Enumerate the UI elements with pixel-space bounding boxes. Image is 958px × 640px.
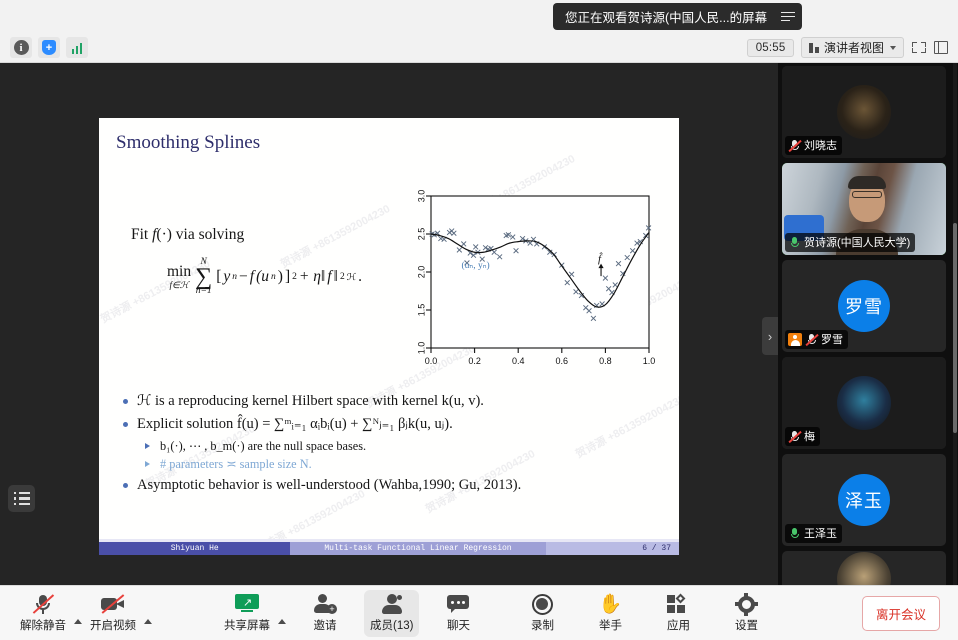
control-button-gear[interactable]: 设置 <box>719 590 773 637</box>
slide-bullet: ℋ is a reproducing kernel Hilbert space … <box>117 390 667 413</box>
meeting-timer: 05:55 <box>747 39 795 57</box>
control-button-label: 应用 <box>667 617 690 633</box>
formula-u-close: ) <box>278 268 283 286</box>
slide-footer-author: Shiyuan He <box>99 542 290 555</box>
control-button-label: 邀请 <box>314 617 337 633</box>
control-item-group: +邀请 <box>298 590 352 637</box>
control-item-group: 应用 <box>651 590 705 637</box>
formula-sum-lower: n=1 <box>196 287 212 297</box>
chevron-right-icon: › <box>768 329 772 344</box>
participant-tile[interactable] <box>782 551 946 585</box>
formula-y-sub: n <box>232 272 237 282</box>
control-button-label: 成员(13) <box>370 617 413 633</box>
participant-name: 贺诗源(中国人民大学) <box>804 234 910 250</box>
info-icon: i <box>14 40 29 55</box>
formula-bracket-close: ] <box>285 268 290 286</box>
control-item-group: ↗共享屏幕 <box>218 590 286 637</box>
mic-muted-icon <box>788 430 801 443</box>
control-item-group: 设置 <box>719 590 773 637</box>
formula-plus-eta: + η‖ <box>299 268 325 286</box>
participant-tile[interactable]: 贺诗源(中国人民大学) <box>782 163 946 255</box>
participant-name-chip: 罗雪 <box>785 330 848 349</box>
signal-bars-icon <box>72 42 83 54</box>
formula-bracket-open: [ <box>216 268 221 286</box>
svg-text:0.6: 0.6 <box>556 356 569 366</box>
layout-toggle-icon[interactable] <box>934 41 948 54</box>
network-quality-button[interactable] <box>66 37 88 58</box>
fullscreen-icon[interactable] <box>911 40 927 55</box>
control-button-label: 录制 <box>531 617 554 633</box>
view-mode-label: 演讲者视图 <box>824 39 884 56</box>
formula-minus: − <box>239 268 248 286</box>
control-button-label: 举手 <box>599 617 622 633</box>
control-button-label: 解除静音 <box>20 617 66 633</box>
formula-min-symbol: min <box>167 264 191 280</box>
slide-footer-title: Multi-task Functional Linear Regression <box>290 542 545 555</box>
svg-text:0.0: 0.0 <box>425 356 438 366</box>
chevron-up-icon[interactable] <box>278 619 286 624</box>
control-button-record[interactable]: 录制 <box>515 590 569 637</box>
formula-min-operator: min f∈ℋ <box>167 264 191 290</box>
svg-text:2.5: 2.5 <box>416 228 426 241</box>
slide-bullet: Asymptotic behavior is well-understood (… <box>117 474 667 497</box>
slide-bullet: Explicit solution f̂(u) = ∑ᵐᵢ₌₁ αᵢbᵢ(u) … <box>117 413 667 436</box>
svg-text:0.2: 0.2 <box>468 356 481 366</box>
formula-norm-sup: 2 <box>340 272 345 282</box>
slide-sub-bullet: # parameters ≍ sample size N. <box>117 455 667 473</box>
fit-pre: Fit <box>131 226 152 243</box>
control-button-chat[interactable]: 聊天 <box>431 590 485 637</box>
participant-name-chip: 王泽玉 <box>785 524 842 543</box>
participant-name-chip: 梅 <box>785 427 820 446</box>
svg-text:1.5: 1.5 <box>416 304 426 317</box>
avatar: 泽玉 <box>838 474 890 526</box>
presentation-slide: 贺诗源 +8613592004230 贺诗源 +8613592004230 贺诗… <box>99 118 679 555</box>
mic-muted-icon <box>805 333 818 346</box>
control-button-mic-muted[interactable]: 解除静音 <box>14 590 72 637</box>
topbar-left-group: i + <box>0 37 88 58</box>
chevron-down-icon <box>890 46 896 50</box>
participant-tile[interactable]: 泽玉王泽玉 <box>782 454 946 546</box>
mic-on-icon <box>788 236 801 249</box>
apps-icon <box>667 594 689 614</box>
slide-sub-bullet: b₁(·), ⋯ , b_m(·) are the null space bas… <box>117 437 667 455</box>
control-button-raise-hand[interactable]: ✋举手 <box>583 590 637 637</box>
annotation-toolbar-button[interactable] <box>8 485 35 512</box>
meeting-topbar: i + 05:55 演讲者视图 <box>0 33 958 63</box>
control-item-group: 录制 <box>515 590 569 637</box>
avatar-photo <box>782 551 946 585</box>
participant-name-chip: 刘晓志 <box>785 136 842 155</box>
formula-summation: N ∑ n=1 <box>195 258 212 296</box>
camera-off-icon <box>100 594 126 614</box>
control-bar-mid-group: ↗共享屏幕+邀请成员(13)聊天 <box>218 590 485 637</box>
control-button-label: 设置 <box>735 617 758 633</box>
screen-share-banner-text: 您正在观看贺诗源(中国人民...的屏幕 <box>565 7 767 26</box>
participants-icon <box>380 594 404 614</box>
invite-user-icon: + <box>313 594 337 614</box>
participant-tile[interactable]: 梅 <box>782 357 946 449</box>
formula-min-subscript: f∈ℋ <box>169 281 188 290</box>
speaker-view-icon <box>809 43 819 53</box>
svg-text:1.0: 1.0 <box>643 356 656 366</box>
svg-text:0.8: 0.8 <box>599 356 612 366</box>
hamburger-menu-icon[interactable] <box>777 12 792 22</box>
control-item-group: 聊天 <box>431 590 485 637</box>
slide-title: Smoothing Splines <box>116 132 260 154</box>
chart-annotation-points-label: (uₙ, yₙ) <box>462 260 490 271</box>
host-badge-icon <box>788 333 802 346</box>
slide-footer-page: 6 / 37 <box>546 542 679 555</box>
encryption-shield-button[interactable]: + <box>38 37 60 58</box>
svg-text:0.4: 0.4 <box>512 356 525 366</box>
formula-sum-symbol: ∑ <box>195 268 212 287</box>
participant-name: 梅 <box>804 428 815 444</box>
control-button-participants[interactable]: 成员(13) <box>364 590 419 637</box>
formula-period: . <box>358 268 362 286</box>
control-button-invite-user[interactable]: +邀请 <box>298 590 352 637</box>
chevron-up-icon[interactable] <box>144 619 152 624</box>
participant-name: 刘晓志 <box>804 137 837 153</box>
participant-tile[interactable]: 罗雪罗雪 <box>782 260 946 352</box>
chart-y-axis: 1.01.52.02.53.0 <box>416 190 431 355</box>
mic-muted-icon <box>788 139 801 152</box>
fit-intro-line: Fit f(·) via solving <box>131 226 244 244</box>
shield-icon: + <box>42 40 56 55</box>
participant-name: 罗雪 <box>821 331 843 347</box>
fit-post: (·) via solving <box>156 226 244 243</box>
formula-norm-f: f <box>327 268 331 286</box>
control-button-apps[interactable]: 应用 <box>651 590 705 637</box>
control-item-group: 开启视频 <box>84 590 152 637</box>
top-strip: 您正在观看贺诗源(中国人民...的屏幕 <box>0 0 958 33</box>
view-mode-selector[interactable]: 演讲者视图 <box>801 37 904 58</box>
raise-hand-icon: ✋ <box>599 595 623 614</box>
chevron-up-icon[interactable] <box>74 619 82 624</box>
control-button-camera-off[interactable]: 开启视频 <box>84 590 142 637</box>
participant-name: 王泽玉 <box>804 525 837 541</box>
mic-muted-icon <box>32 593 54 615</box>
control-button-share-screen[interactable]: ↗共享屏幕 <box>218 590 276 637</box>
svg-text:1.0: 1.0 <box>416 342 426 355</box>
formula-u-sub: n <box>271 272 276 282</box>
share-screen-icon: ↗ <box>235 594 259 614</box>
smoothing-spline-chart: 1.01.52.02.53.0 0.00.20.40.60.81.0 (uₙ, … <box>391 188 659 388</box>
control-button-label: 开启视频 <box>90 617 136 633</box>
meeting-info-button[interactable]: i <box>10 37 32 58</box>
formula-y: y <box>223 268 230 286</box>
participant-tile[interactable]: 刘晓志 <box>782 66 946 158</box>
meeting-control-bar: 解除静音开启视频 ↗共享屏幕+邀请成员(13)聊天 录制✋举手应用设置 离开会议 <box>0 585 958 640</box>
control-item-group: 解除静音 <box>14 590 82 637</box>
objective-formula: min f∈ℋ N ∑ n=1 [yn − f(un)]2 + η‖f‖2ℋ. <box>167 258 362 296</box>
svg-text:2.0: 2.0 <box>416 266 426 279</box>
list-annotation-icon <box>14 492 30 506</box>
slide-bullet-list: ℋ is a reproducing kernel Hilbert space … <box>117 390 667 497</box>
participant-name-chip: 贺诗源(中国人民大学) <box>785 233 915 252</box>
control-item-group: ✋举手 <box>583 590 637 637</box>
shared-screen-stage: 贺诗源 +8613592004230 贺诗源 +8613592004230 贺诗… <box>0 63 778 585</box>
chart-x-axis: 0.00.20.40.60.81.0 <box>425 348 656 366</box>
control-item-group: 成员(13) <box>364 590 419 637</box>
rail-collapse-button[interactable]: › <box>762 317 778 355</box>
formula-power: 2 <box>292 272 297 282</box>
chart-svg: 1.01.52.02.53.0 0.00.20.40.60.81.0 (uₙ, … <box>391 188 659 388</box>
control-button-label: 共享屏幕 <box>224 617 270 633</box>
chat-icon <box>447 595 469 613</box>
control-bar-right-group: 录制✋举手应用设置 <box>515 590 773 637</box>
record-icon <box>532 594 553 615</box>
formula-norm-sub: ℋ <box>347 272 356 283</box>
mic-on-icon <box>788 527 801 540</box>
formula-u-open: (u <box>256 268 269 286</box>
topbar-right-group: 05:55 演讲者视图 <box>747 37 958 58</box>
control-bar-left-group: 解除静音开启视频 <box>0 590 152 637</box>
formula-f: f <box>250 268 254 286</box>
avatar: 罗雪 <box>838 280 890 332</box>
gear-icon <box>736 594 757 615</box>
leave-meeting-button[interactable]: 离开会议 <box>862 596 940 631</box>
svg-text:3.0: 3.0 <box>416 190 426 203</box>
control-button-label: 聊天 <box>447 617 470 633</box>
chart-plot-frame <box>431 196 649 348</box>
slide-footer: Shiyuan He Multi-task Functional Linear … <box>99 542 679 555</box>
participant-rail[interactable]: 刘晓志贺诗源(中国人民大学)罗雪罗雪梅泽玉王泽玉 <box>778 63 958 585</box>
formula-norm-close: ‖ <box>334 268 338 286</box>
screen-share-banner[interactable]: 您正在观看贺诗源(中国人民...的屏幕 <box>553 3 802 30</box>
participant-rail-scrollbar[interactable] <box>953 63 957 585</box>
